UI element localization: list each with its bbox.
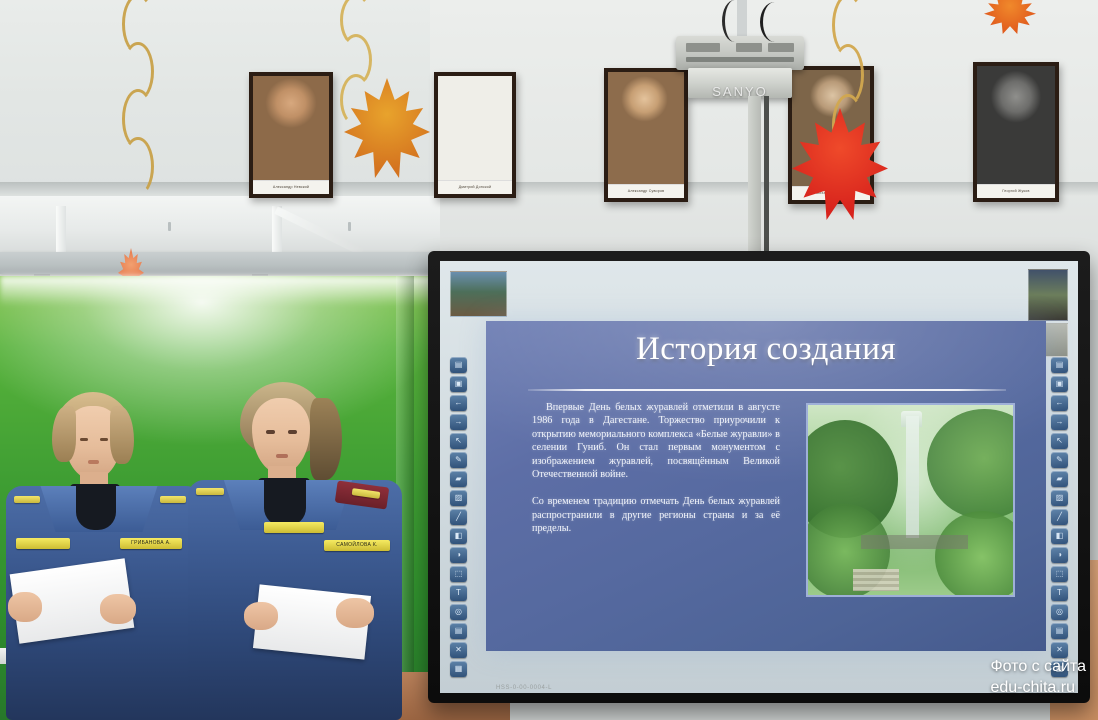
cadet-left-hand-r: [100, 594, 136, 624]
new-page-icon[interactable]: ▤: [1051, 357, 1068, 373]
portrait-alexander-nevsky: Александр Невский: [249, 72, 333, 198]
whiteboard-serial-label: HSS-0-00-0004-L: [496, 685, 552, 691]
portrait-dmitry-donskoy-caption: Дмитрий Донской: [438, 180, 512, 194]
projector-vent-right: [768, 43, 794, 52]
projector-pole: [748, 96, 761, 261]
hanging-spiral-left: [118, 0, 152, 184]
cadet-right-eye-l: [266, 430, 275, 434]
fill-icon[interactable]: ◑: [450, 547, 467, 563]
slide-paragraph-1: Впервые День белых журавлей отметили в а…: [532, 401, 780, 481]
watermark-line-2: edu-chita.ru: [990, 677, 1086, 698]
projector-vent-mid: [736, 43, 762, 52]
whiteboard-toolbar-left[interactable]: ▤▣←→↖✎▰▨╱◧◑⬚T◎▤✕▦: [450, 357, 467, 677]
whiteboard-surface[interactable]: ▤▣←→↖✎▰▨╱◧◑⬚T◎▤✕▦ ▤▣←→↖✎▰▨╱◧◑⬚T◎▤✕▦ Исто…: [440, 261, 1078, 693]
cadet-left-hair-side-r: [110, 406, 134, 464]
projector-cable-1: [722, 0, 747, 42]
slide-thumbnail-top-left[interactable]: [450, 271, 507, 317]
photo-credit-watermark: Фото с сайта edu-chita.ru: [990, 656, 1086, 698]
portrait-dmitry-donskoy-mat: Дмитрий Донской: [438, 76, 512, 194]
cadet-left: ГРИБАНОВА А.: [0, 380, 210, 720]
wall-shadow: [0, 182, 1098, 196]
cursor-icon[interactable]: ↖: [450, 433, 467, 449]
portrait-alexander-nevsky-mat: Александр Невский: [253, 76, 329, 194]
projector-port-row: [686, 57, 794, 62]
cadet-right-epaulette-l: [196, 488, 224, 495]
projector-power-cord: [764, 96, 769, 256]
ceiling-hook-1: [168, 222, 171, 231]
slide-body: Впервые День белых журавлей отметили в а…: [532, 401, 780, 550]
monument-base: [861, 535, 968, 549]
pen-icon[interactable]: ✎: [1051, 452, 1068, 468]
cadet-right-face: [252, 398, 310, 474]
portrait-dmitry-donskoy-image: [438, 76, 512, 180]
slide-divider: [528, 389, 1006, 391]
new-page-icon[interactable]: ▤: [450, 357, 467, 373]
tree-right: [927, 409, 1015, 519]
cadet-right-nametag: САМОЙЛОВА К.: [324, 540, 390, 551]
portrait-zhukov: Георгий Жуков: [973, 62, 1059, 202]
cadet-right: САМОЙЛОВА К.: [186, 372, 406, 720]
select-icon[interactable]: ⬚: [450, 566, 467, 582]
spotlight-icon[interactable]: ◎: [450, 604, 467, 620]
cadet-left-hand-l: [8, 592, 42, 622]
portrait-dmitry-donskoy: Дмитрий Донской: [434, 72, 516, 198]
text-icon[interactable]: T: [450, 585, 467, 601]
hanging-spiral-mid: [336, 0, 370, 114]
chalkboard-glare: [0, 276, 446, 306]
cadet-right-collar-gap: [264, 480, 306, 526]
cadet-left-epaulette-r: [160, 496, 186, 503]
select-icon[interactable]: ⬚: [1051, 566, 1068, 582]
undo-icon[interactable]: ←: [1051, 395, 1068, 411]
shape-icon[interactable]: ◧: [450, 528, 467, 544]
save-icon[interactable]: ▣: [450, 376, 467, 392]
cadet-right-eye-r: [288, 430, 297, 434]
watermark-line-1: Фото с сайта: [990, 656, 1086, 677]
settings-icon[interactable]: ✕: [450, 642, 467, 658]
fill-icon[interactable]: ◑: [1051, 547, 1068, 563]
portrait-alexander-nevsky-image: [253, 76, 329, 180]
save-icon[interactable]: ▣: [1051, 376, 1068, 392]
whiteboard-toolbar-right[interactable]: ▤▣←→↖✎▰▨╱◧◑⬚T◎▤✕▦: [1051, 357, 1068, 677]
shrub-right: [935, 511, 1015, 597]
cadet-left-eye-r: [100, 438, 108, 441]
cadet-right-hand-l: [244, 602, 278, 630]
portrait-suvorov-caption: Александр Суворов: [608, 184, 684, 198]
highlighter-icon[interactable]: ▰: [450, 471, 467, 487]
cadet-left-epaulette-l: [14, 496, 40, 503]
ceiling-rail: [0, 252, 440, 274]
cadet-right-rank-patch: [264, 522, 324, 533]
more-icon[interactable]: ▦: [450, 661, 467, 677]
line-icon[interactable]: ╱: [1051, 509, 1068, 525]
slide-photo-memorial: [806, 403, 1015, 597]
eraser-icon[interactable]: ▨: [1051, 490, 1068, 506]
cadet-left-collar-gap: [76, 486, 116, 530]
interactive-whiteboard[interactable]: ▤▣←→↖✎▰▨╱◧◑⬚T◎▤✕▦ ▤▣←→↖✎▰▨╱◧◑⬚T◎▤✕▦ Исто…: [428, 251, 1090, 703]
cadet-right-mouth: [276, 454, 288, 458]
shape-icon[interactable]: ◧: [1051, 528, 1068, 544]
cadet-left-nametag-patch: [16, 538, 70, 549]
projected-slide: История создания Впервые День белых жура…: [486, 321, 1046, 651]
cadet-right-hand-r: [336, 598, 374, 628]
slide-thumbnail-right-1[interactable]: [1028, 269, 1068, 321]
redo-icon[interactable]: →: [1051, 414, 1068, 430]
portrait-suvorov-image: [608, 72, 684, 184]
cadet-left-eye-l: [80, 438, 88, 441]
monument-column: [906, 416, 919, 538]
highlighter-icon[interactable]: ▰: [1051, 471, 1068, 487]
ceiling-hook-2: [348, 222, 351, 231]
projector-cable-2: [760, 2, 789, 42]
hanging-spiral-left-coil-3: [122, 137, 154, 197]
cursor-icon[interactable]: ↖: [1051, 433, 1068, 449]
portrait-zhukov-mat: Георгий Жуков: [977, 66, 1055, 198]
portrait-zhukov-caption: Георгий Жуков: [977, 184, 1055, 198]
portrait-zhukov-image: [977, 66, 1055, 184]
slide-paragraph-2: Со временем традицию отмечать День белых…: [532, 495, 780, 535]
portrait-suvorov-mat: Александр Суворов: [608, 72, 684, 198]
portrait-suvorov: Александр Суворов: [604, 68, 688, 202]
ceiling-beam-1: [56, 206, 66, 258]
ceiling-panel: [0, 196, 440, 258]
text-icon[interactable]: T: [1051, 585, 1068, 601]
classroom-photo: Александр Невский Дмитрий Донской Алекса…: [0, 0, 1098, 720]
screen-shade-icon[interactable]: ▤: [450, 623, 467, 639]
cadet-left-nametag: ГРИБАНОВА А.: [120, 538, 182, 549]
undo-icon[interactable]: ←: [450, 395, 467, 411]
slide-title: История создания: [486, 331, 1046, 368]
portrait-alexander-nevsky-caption: Александр Невский: [253, 180, 329, 194]
monument-steps: [853, 569, 899, 591]
spotlight-icon[interactable]: ◎: [1051, 604, 1068, 620]
eraser-icon[interactable]: ▨: [450, 490, 467, 506]
cadet-left-hair-side-l: [52, 406, 76, 462]
cadet-right-ponytail: [310, 398, 342, 480]
pen-icon[interactable]: ✎: [450, 452, 467, 468]
projector-body: [676, 36, 804, 70]
redo-icon[interactable]: →: [450, 414, 467, 430]
line-icon[interactable]: ╱: [450, 509, 467, 525]
cadet-left-mouth: [88, 460, 99, 464]
screen-shade-icon[interactable]: ▤: [1051, 623, 1068, 639]
projector-vent-left: [686, 43, 720, 52]
